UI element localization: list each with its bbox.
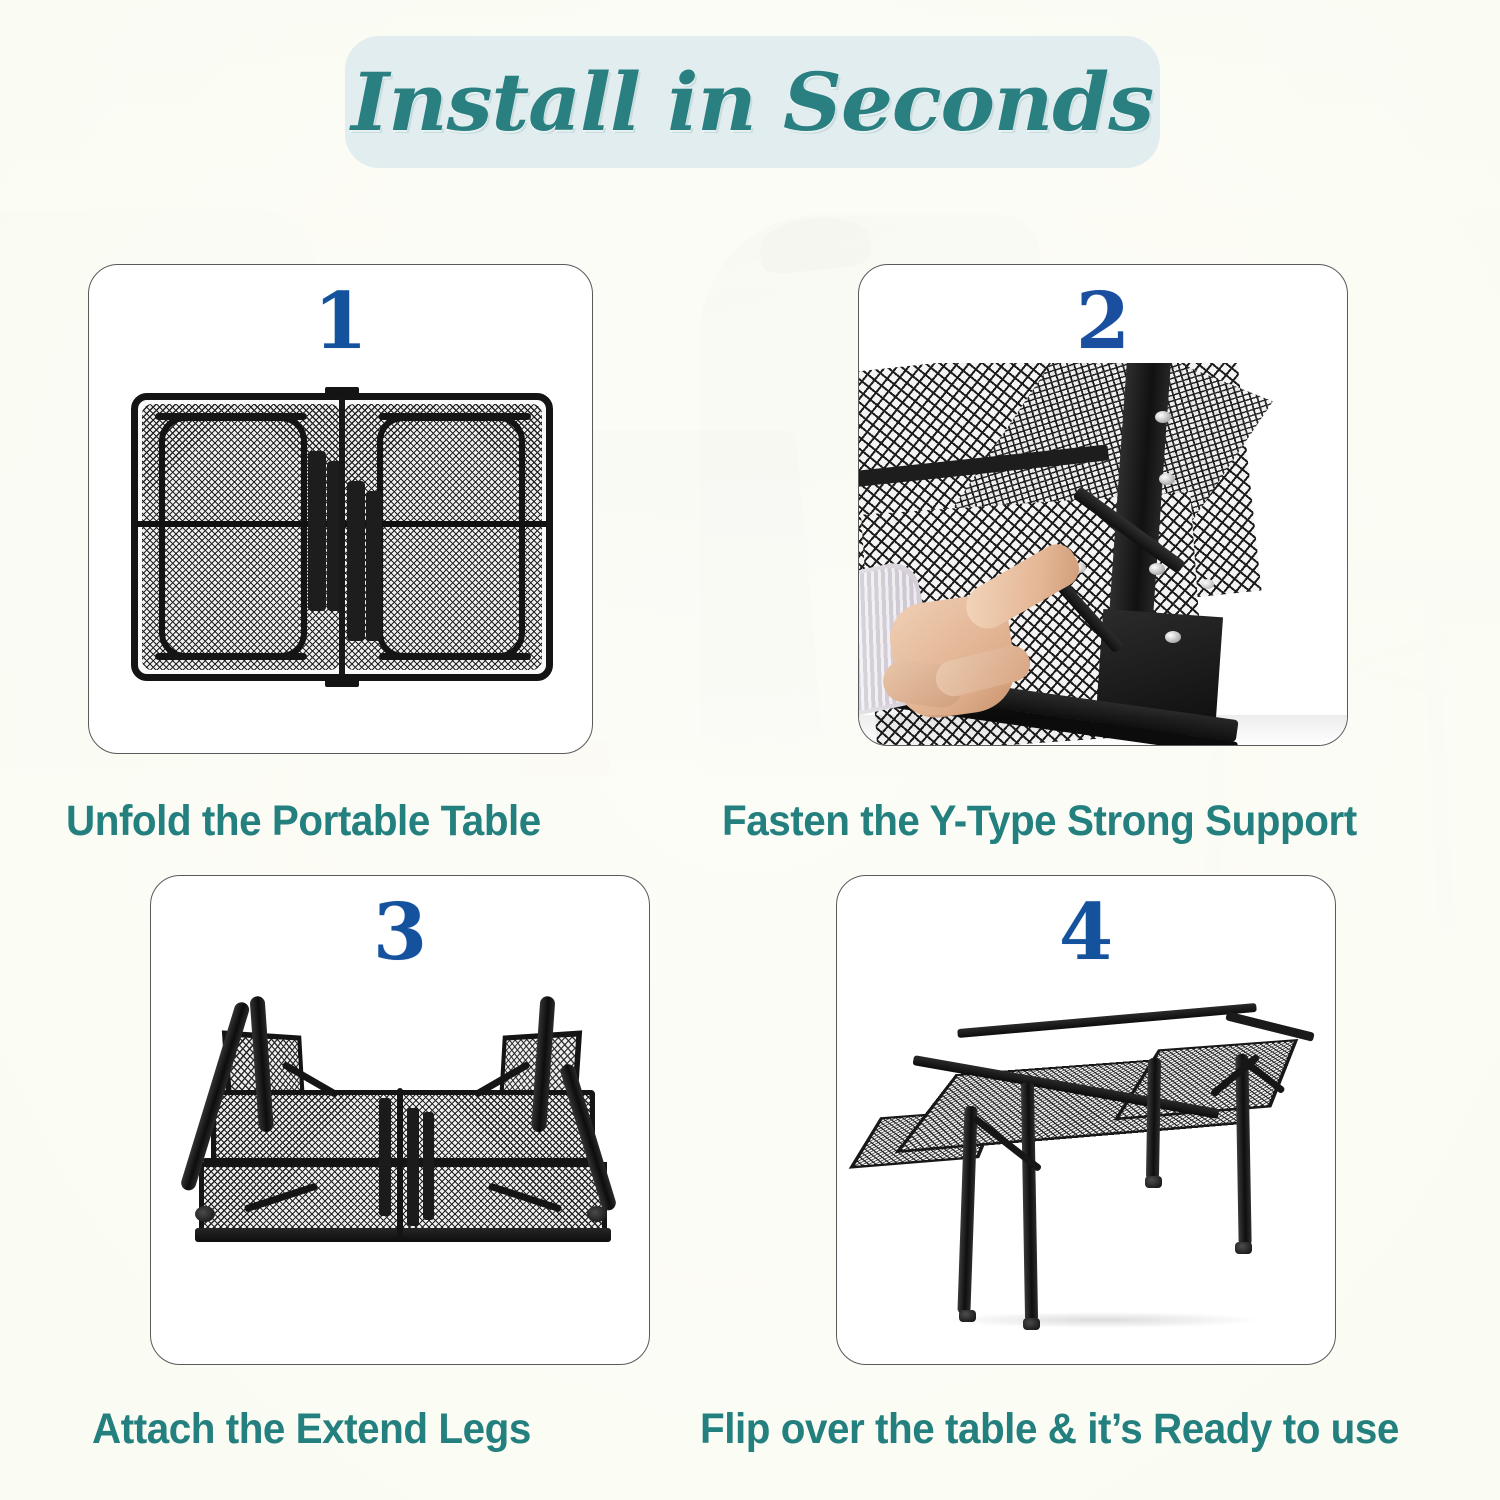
folded-rod-3 [423,1112,434,1220]
table-foot-back-right [1235,1242,1252,1254]
folded-leg-c [347,481,365,641]
inner-frame-right [377,415,525,659]
inner-frame-left [159,415,307,659]
rivet-4 [1165,631,1181,643]
step-card-2: 2 [858,264,1348,746]
step-number-4: 4 [837,894,1335,972]
rail-bottom-right [379,653,531,660]
latch-top [325,387,359,399]
step-caption-2: Fasten the Y-Type Strong Support [722,800,1357,843]
center-hinge [339,395,345,681]
step-number-1: 1 [89,283,592,361]
y-support-photo [859,363,1348,746]
folded-leg-d [366,491,382,641]
screw-plate [1201,579,1214,589]
step-number-3: 3 [151,894,649,972]
title-banner: Install in Seconds [345,36,1160,168]
rivet-1 [1155,411,1171,423]
table-foot-back-middle [1145,1176,1162,1188]
step-caption-4: Flip over the table & it’s Ready to use [700,1408,1399,1451]
step-card-3: 3 [150,875,650,1365]
folded-leg-a [308,451,326,611]
rail-top-right [379,413,531,420]
folded-rod-1 [379,1098,391,1216]
table-leg-back-middle [1146,1058,1161,1180]
step-caption-1: Unfold the Portable Table [66,800,541,843]
rivet-2 [1159,473,1175,485]
center-hinge-bar [397,1088,403,1240]
latch-bottom [325,675,359,687]
tabletop-right-edge [1225,1011,1315,1042]
step-card-1: 1 [88,264,593,754]
table-shadow [947,1312,1257,1328]
step-caption-3: Attach the Extend Legs [92,1408,531,1451]
rail-bottom-left [155,653,307,660]
step-number-2: 2 [859,283,1347,361]
photo-shadow [859,715,1348,746]
folded-rod-2 [407,1108,419,1226]
foot-right [587,1206,607,1222]
rail-top-left [155,413,307,420]
foot-left [195,1206,215,1222]
tabletop-back-edge [957,1003,1257,1038]
page-title: Install in Seconds [351,62,1153,142]
rivet-3 [1149,563,1165,575]
step-card-4: 4 [836,875,1336,1365]
front-rim [195,1228,611,1242]
